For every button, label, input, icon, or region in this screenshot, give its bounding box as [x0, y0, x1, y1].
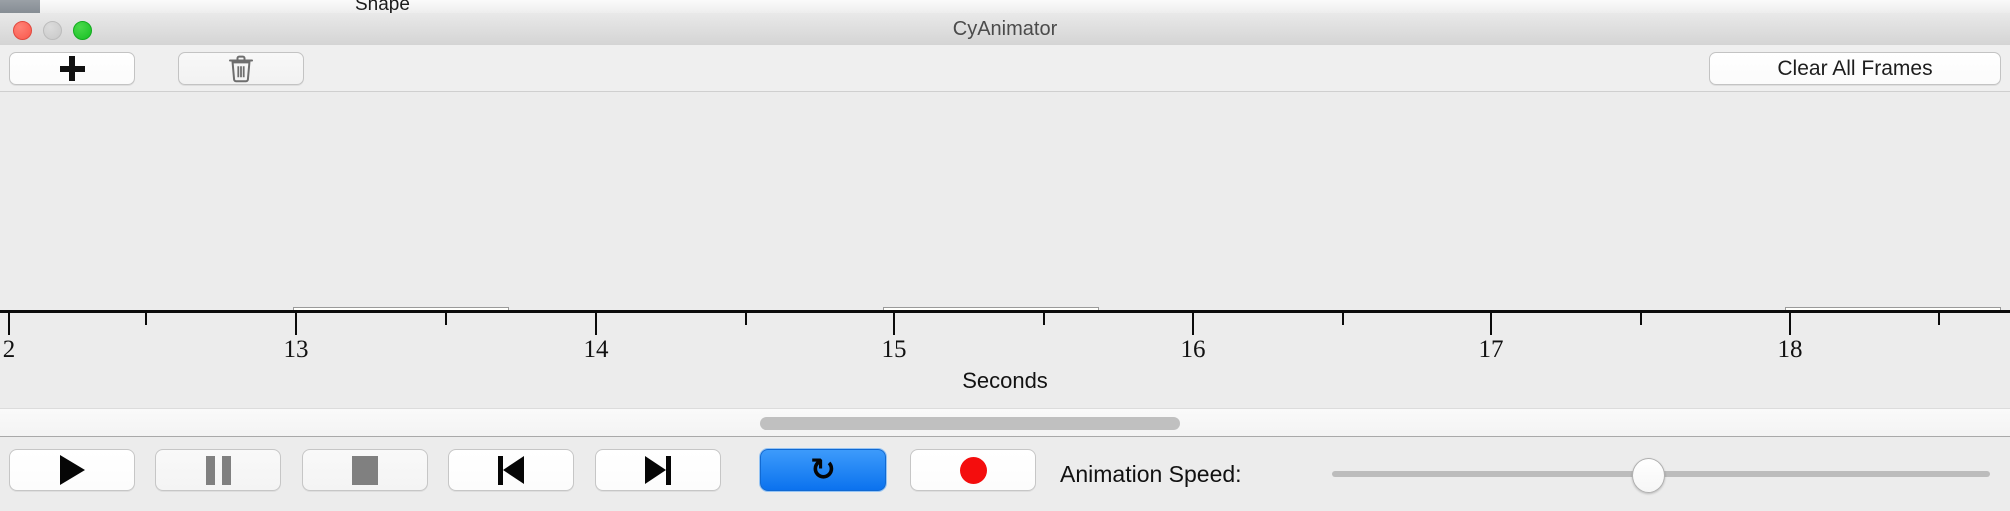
axis-title-seconds: Seconds [0, 368, 2010, 394]
bg-segment [965, 0, 1895, 13]
ruler-tick-label: 14 [584, 336, 609, 364]
ruler-tick-major [1192, 313, 1194, 335]
ruler-tick-minor [1640, 313, 1642, 325]
stop-icon [352, 456, 378, 485]
bg-segment [425, 0, 966, 13]
play-icon [60, 455, 85, 485]
ruler-tick-major [1789, 313, 1791, 335]
record-button[interactable] [910, 449, 1036, 491]
skip-to-start-button[interactable] [448, 449, 574, 491]
trash-icon [228, 55, 254, 83]
ruler-tick-label: 18 [1778, 336, 1803, 364]
clear-all-frames-button[interactable]: Clear All Frames [1709, 52, 2001, 85]
ruler-tick-major [8, 313, 10, 335]
ruler-tick-minor [1043, 313, 1045, 325]
bg-shape-label: Shape [355, 0, 410, 13]
ruler-tick-label: 2 [3, 336, 16, 364]
bg-segment [230, 0, 326, 13]
delete-frame-button[interactable] [178, 52, 304, 85]
bg-segment [40, 0, 231, 13]
loop-icon: ↻ [810, 455, 836, 486]
add-frame-button[interactable] [9, 52, 135, 85]
plus-icon [60, 56, 85, 81]
ruler-tick-label: 16 [1181, 336, 1206, 364]
ruler-tick-major [893, 313, 895, 335]
bg-corner [1890, 0, 2010, 13]
pause-icon [206, 456, 231, 485]
animation-speed-label: Animation Speed: [1060, 461, 1242, 488]
skip-previous-icon [498, 456, 524, 485]
scrollbar-thumb[interactable] [760, 417, 1180, 430]
animation-speed-slider-thumb[interactable] [1632, 458, 1665, 493]
ruler-tick-label: 17 [1479, 336, 1504, 364]
play-button[interactable] [9, 449, 135, 491]
ruler-tick-label: 13 [284, 336, 309, 364]
ruler-tick-minor [745, 313, 747, 325]
skip-next-icon [645, 456, 671, 485]
background-window-strip: Shape [0, 0, 2010, 13]
title-bar: CyAnimator [0, 13, 2010, 46]
ruler-tick-major [595, 313, 597, 335]
timeline-ruler[interactable]: 2131415161718 [0, 310, 2010, 370]
pause-button[interactable] [155, 449, 281, 491]
playback-control-bar: ↻ Animation Speed: [0, 436, 2010, 511]
toolbar: Clear All Frames [0, 45, 2010, 92]
cyanimator-window: Shape CyAnimator Clear All Frames [0, 0, 2010, 510]
timeline-scrollbar[interactable] [0, 408, 2010, 437]
ruler-tick-minor [1342, 313, 1344, 325]
stop-button[interactable] [302, 449, 428, 491]
bg-segment [0, 0, 41, 13]
ruler-tick-major [295, 313, 297, 335]
skip-to-end-button[interactable] [595, 449, 721, 491]
ruler-tick-minor [145, 313, 147, 325]
ruler-tick-minor [445, 313, 447, 325]
timeline-panel[interactable]: BUD4 CIK1 CLN1 FAR1 KAR4 STE2 CLB2 SWI5 … [0, 92, 2010, 314]
window-title: CyAnimator [0, 13, 2010, 45]
ruler-tick-major [1490, 313, 1492, 335]
loop-button[interactable]: ↻ [760, 449, 886, 491]
ruler-tick-minor [1938, 313, 1940, 325]
record-icon [960, 457, 987, 484]
ruler-baseline [0, 310, 2010, 313]
ruler-tick-label: 15 [882, 336, 907, 364]
